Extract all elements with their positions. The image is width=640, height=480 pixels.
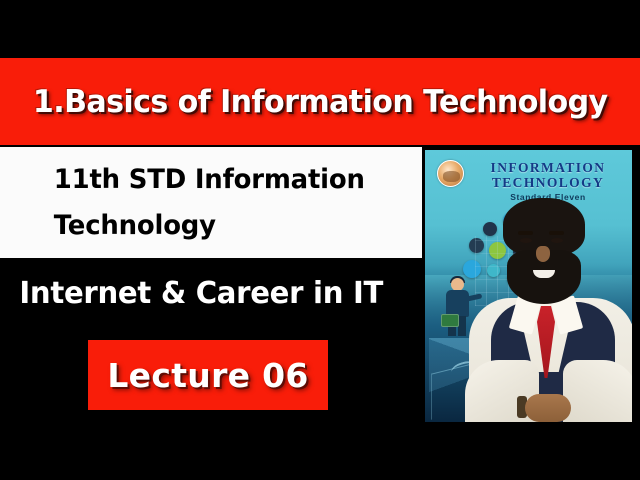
book-cover-title: INFORMATION TECHNOLOGY bbox=[473, 160, 623, 190]
presenter-arm-right bbox=[563, 360, 632, 422]
lecture-badge-label: Lecture 06 bbox=[107, 356, 308, 395]
lecture-badge: Lecture 06 bbox=[88, 340, 328, 410]
presenter-crossed-hands bbox=[525, 394, 571, 422]
presenter-nose bbox=[536, 246, 550, 262]
presenter-eye-right bbox=[551, 238, 563, 243]
presenter-photo: INFORMATION TECHNOLOGY Standard Eleven bbox=[425, 150, 632, 422]
book-cover-title-line-1: INFORMATION bbox=[491, 160, 606, 175]
presenter-eye-left bbox=[520, 238, 532, 243]
presenter-eyebrow-right bbox=[549, 231, 564, 235]
subtitle-strip: Internet & Career in IT bbox=[0, 263, 422, 323]
subtitle-text: Internet & Career in IT bbox=[0, 276, 383, 311]
course-info-block: 11th STD Information Technology bbox=[0, 147, 422, 258]
presenter-figure bbox=[463, 198, 632, 422]
balbharati-seal-logo-icon bbox=[437, 160, 464, 187]
book-cover-title-line-2: TECHNOLOGY bbox=[492, 175, 604, 190]
presenter-eyebrow-left bbox=[518, 231, 533, 235]
banner-title: 1.Basics of Information Technology bbox=[33, 84, 608, 120]
course-info-line-1: 11th STD Information bbox=[0, 157, 405, 203]
headline-banner: 1.Basics of Information Technology bbox=[0, 58, 640, 145]
briefcase-icon bbox=[441, 314, 459, 327]
video-thumbnail: 1.Basics of Information Technology 11th … bbox=[0, 0, 640, 480]
course-info-line-2: Technology bbox=[0, 203, 405, 249]
